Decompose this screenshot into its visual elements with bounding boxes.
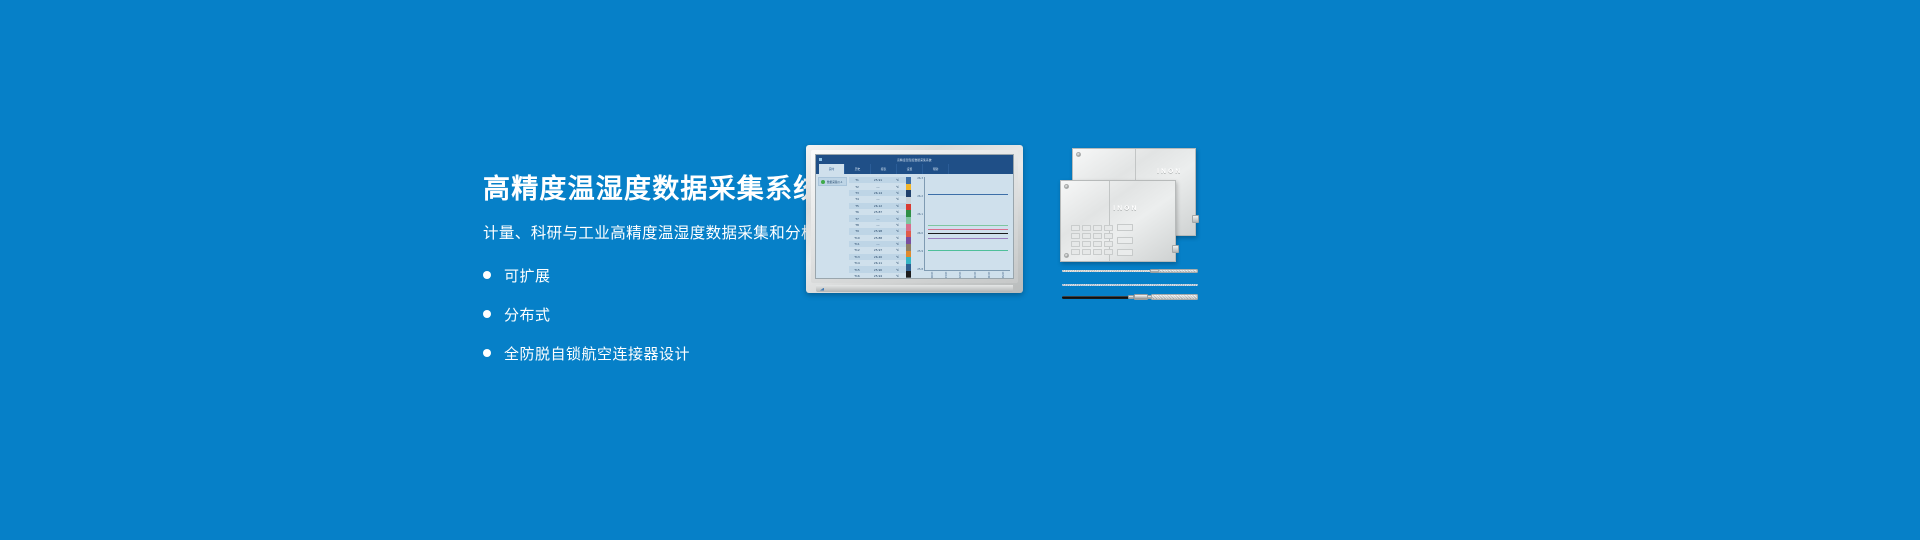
cell-channel: T5 (849, 204, 865, 208)
cell-value: --- (865, 242, 891, 246)
product-hardware-image: INON INON (1060, 140, 1200, 300)
software-titlebar: 高精度温湿度数据采集系统 (816, 155, 1013, 164)
monitor-shell: 高精度温湿度数据采集系统 实时 历史 报表 设置 帮助 (806, 145, 1023, 293)
cell-channel: T13 (849, 255, 865, 259)
cell-channel: T15 (849, 268, 865, 272)
trend-line (928, 225, 1008, 226)
cell-channel: T16 (849, 274, 865, 278)
cell-value: --- (865, 217, 891, 221)
sensor-housing (1151, 294, 1198, 300)
monitor-bezel: 高精度温湿度数据采集系统 实时 历史 报表 设置 帮助 (811, 150, 1018, 283)
x-axis-tick: 10:00 (930, 272, 933, 279)
list-item: 分布式 (483, 304, 1043, 325)
cell-value: 25.91 (865, 178, 891, 182)
trend-line (928, 233, 1008, 234)
tab-help[interactable]: 帮助 (923, 164, 949, 174)
y-axis-tick: 26.2 (917, 195, 923, 198)
cell-channel: T9 (849, 229, 865, 233)
connector-array (1117, 224, 1133, 256)
braided-cable (1062, 270, 1154, 272)
probe-aviation (1062, 294, 1198, 300)
cell-value: 25.94 (865, 274, 891, 278)
cell-channel: T6 (849, 210, 865, 214)
cell-unit: ℃ (891, 261, 904, 265)
cell-unit: ℃ (891, 274, 904, 278)
cell-unit: ℃ (891, 255, 904, 259)
x-axis-tick: 10:20 (958, 272, 961, 279)
cell-unit: ℃ (891, 210, 904, 214)
cell-value: 26.11 (865, 261, 891, 265)
trend-line (928, 194, 1008, 195)
tab-realtime[interactable]: 实时 (819, 164, 845, 174)
cell-value: 25.97 (865, 248, 891, 252)
black-cable (1062, 296, 1132, 299)
cell-channel: T11 (849, 242, 865, 246)
screw-icon (1064, 253, 1069, 258)
bullet-dot-icon (483, 310, 491, 318)
table-row[interactable]: T1625.94℃ (849, 273, 906, 279)
probe-tip (1158, 269, 1198, 274)
trend-line (928, 238, 1008, 239)
probe-blue (1062, 282, 1198, 288)
brand-logo: INON (1157, 167, 1182, 175)
list-item: 全防脱自锁航空连接器设计 (483, 343, 1043, 364)
device-tree-node[interactable]: 数据采集仪-1 (818, 177, 847, 186)
chart-plot-area (924, 177, 1010, 271)
cell-channel: T8 (849, 223, 865, 227)
cell-unit: ℃ (891, 268, 904, 272)
cell-value: 25.87 (865, 210, 891, 214)
cell-value: 26.20 (865, 255, 891, 259)
x-axis-tick: 10:50 (1001, 272, 1004, 279)
trend-line (928, 229, 1008, 230)
device-name: 数据采集仪-1 (827, 180, 843, 184)
y-axis-tick: 26.0 (917, 232, 923, 235)
connector-port (1192, 215, 1199, 223)
aviation-connector (1134, 294, 1148, 300)
brand-logo: INON (1113, 204, 1138, 212)
cell-unit: ℃ (891, 197, 904, 201)
cell-unit: ℃ (891, 185, 904, 189)
trend-chart: 26.326.226.126.025.925.8 10:0010:1010:20… (911, 174, 1013, 279)
cell-value: 26.14 (865, 191, 891, 195)
enclosure-front: INON (1060, 180, 1176, 262)
status-indicator-icon (821, 180, 825, 184)
software-body: 数据采集仪-1 T125.91℃T2---℃T326.14℃T4---℃T526… (816, 174, 1013, 279)
chart-x-axis: 10:0010:1010:2010:3010:4010:50 (924, 271, 1010, 279)
feature-label: 可扩展 (504, 265, 551, 286)
cell-unit: ℃ (891, 217, 904, 221)
cell-unit: ℃ (891, 248, 904, 252)
cell-unit: ℃ (891, 236, 904, 240)
cell-channel: T12 (849, 248, 865, 252)
bullet-dot-icon (483, 271, 491, 279)
x-axis-tick: 10:40 (987, 272, 990, 279)
y-axis-tick: 25.9 (917, 250, 923, 253)
device-tree-panel: 数据采集仪-1 (816, 174, 849, 279)
cell-value: --- (865, 223, 891, 227)
bullet-dot-icon (483, 349, 491, 357)
y-axis-tick: 26.3 (917, 177, 923, 180)
tab-settings[interactable]: 设置 (897, 164, 923, 174)
software-window-title: 高精度温湿度数据采集系统 (816, 158, 1013, 162)
monitor-screen: 高精度温湿度数据采集系统 实时 历史 报表 设置 帮助 (815, 154, 1014, 279)
feature-label: 分布式 (504, 304, 551, 325)
cell-channel: T2 (849, 185, 865, 189)
screw-icon (1076, 152, 1081, 157)
cell-channel: T4 (849, 197, 865, 201)
cell-unit: ℃ (891, 229, 904, 233)
x-axis-tick: 10:30 (973, 272, 976, 279)
cell-value: 26.12 (865, 204, 891, 208)
feature-label: 全防脱自锁航空连接器设计 (504, 343, 690, 364)
cell-value: --- (865, 185, 891, 189)
cell-channel: T1 (849, 178, 865, 182)
screw-icon (1064, 184, 1069, 189)
software-tabbar: 实时 历史 报表 设置 帮助 (816, 164, 1013, 174)
tab-history[interactable]: 历史 (845, 164, 871, 174)
cell-unit: ℃ (891, 204, 904, 208)
cell-unit: ℃ (891, 242, 904, 246)
cell-unit: ℃ (891, 178, 904, 182)
cell-channel: T14 (849, 261, 865, 265)
chart-y-axis: 26.326.226.126.025.925.8 (913, 177, 923, 271)
cell-unit: ℃ (891, 223, 904, 227)
cell-value: 25.98 (865, 229, 891, 233)
connector-port (1172, 245, 1179, 253)
y-axis-tick: 26.1 (917, 213, 923, 216)
cell-channel: T3 (849, 191, 865, 195)
y-axis-tick: 25.8 (917, 268, 923, 271)
x-axis-tick: 10:10 (944, 272, 947, 279)
cell-channel: T7 (849, 217, 865, 221)
cell-unit: ℃ (891, 191, 904, 195)
cell-value: --- (865, 197, 891, 201)
hero-banner: 高精度温湿度数据采集系统 计量、科研与工业高精度温湿度数据采集和分析整体解决方案… (0, 0, 1920, 540)
cell-channel: T10 (849, 236, 865, 240)
terminal-block-array (1071, 225, 1113, 255)
tab-report[interactable]: 报表 (871, 164, 897, 174)
cell-value: 25.88 (865, 236, 891, 240)
product-monitor-image: 高精度温湿度数据采集系统 实时 历史 报表 设置 帮助 (806, 145, 1023, 293)
blue-cable (1062, 284, 1198, 286)
monitor-base (816, 285, 1013, 292)
trend-line (928, 250, 1008, 251)
channel-table: T125.91℃T2---℃T326.14℃T4---℃T526.12℃T625… (849, 174, 906, 279)
cell-value: 25.90 (865, 268, 891, 272)
probe-braided (1062, 268, 1198, 274)
